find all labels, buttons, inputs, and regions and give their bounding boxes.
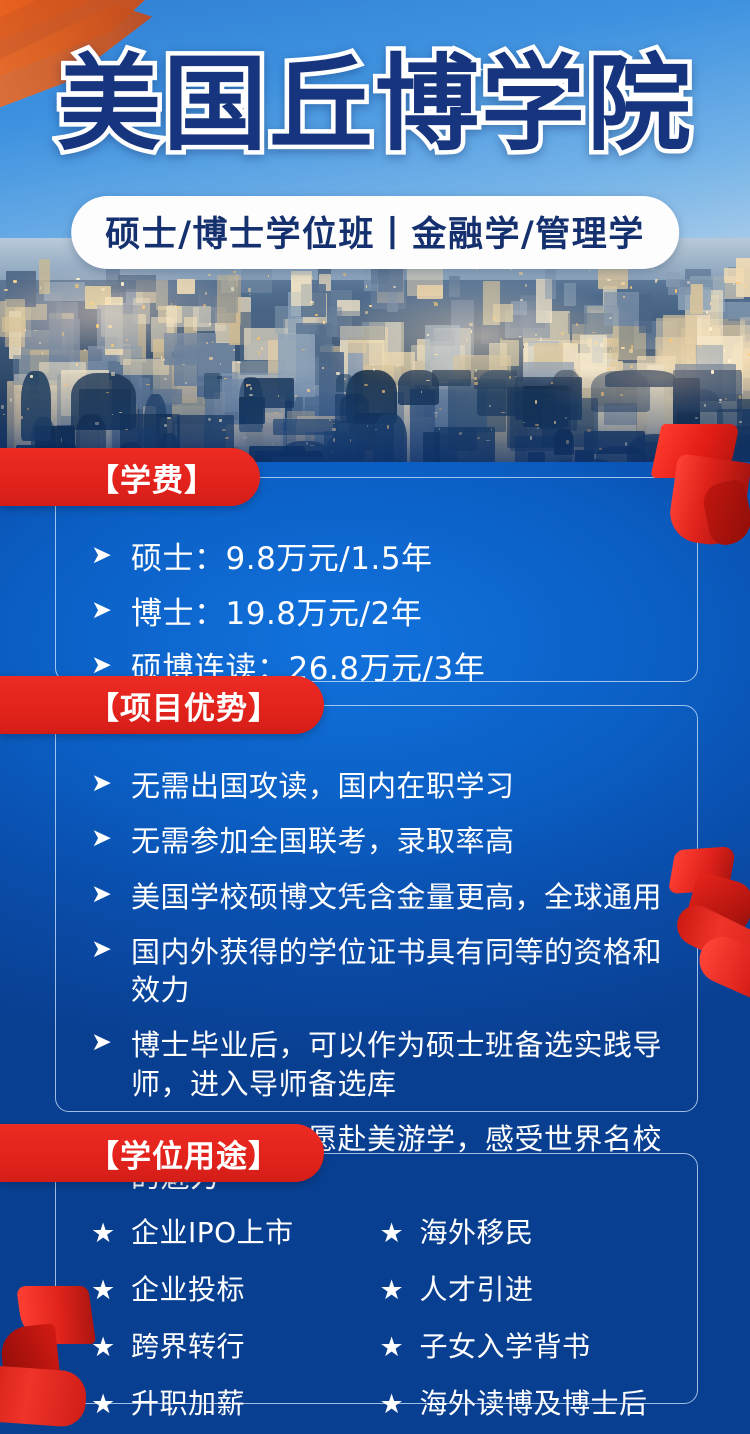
arrow-bullet-icon: ➤ [91, 652, 121, 677]
star-bullet-icon: ★ [380, 1334, 410, 1361]
uses-list: ★企业IPO上市★海外移民★企业投标★人才引进★跨界转行★子女入学背书★升职加薪… [91, 1215, 668, 1434]
list-item: ➤博士：19.8万元/2年 [91, 594, 668, 635]
arrow-bullet-icon: ➤ [91, 936, 121, 961]
list-item-label: 企业投标 [131, 1272, 245, 1309]
list-item: ★跨界转行 [91, 1329, 380, 1366]
list-item-label: 人才引进 [420, 1272, 534, 1309]
tuition-list: ➤硕士：9.8万元/1.5年➤博士：19.8万元/2年➤硕博连读：26.8万元/… [91, 539, 668, 690]
list-item: ➤美国学校硕博文凭含金量更高，全球通用 [91, 878, 668, 916]
list-item: ★海外移民 [380, 1215, 669, 1252]
star-bullet-icon: ★ [91, 1391, 121, 1418]
arrow-bullet-icon: ➤ [91, 597, 121, 622]
list-item: ★升职加薪 [91, 1386, 380, 1423]
list-item: ➤无需出国攻读，国内在职学习 [91, 767, 668, 805]
section-uses-title: 【学位用途】 [88, 1131, 280, 1176]
star-bullet-icon: ★ [91, 1277, 121, 1304]
list-item: ★人才引进 [380, 1272, 669, 1309]
list-item: ➤国内外获得的学位证书具有同等的资格和效力 [91, 933, 668, 1010]
list-item-label: 升职加薪 [131, 1386, 245, 1423]
list-item-label: 硕士：9.8万元/1.5年 [131, 539, 433, 580]
star-bullet-icon: ★ [380, 1277, 410, 1304]
arrow-bullet-icon: ➤ [91, 825, 121, 850]
list-item-label: 无需出国攻读，国内在职学习 [131, 767, 515, 805]
star-bullet-icon: ★ [91, 1334, 121, 1361]
cityscape-photo [0, 238, 750, 462]
star-bullet-icon: ★ [380, 1220, 410, 1247]
star-bullet-icon: ★ [380, 1391, 410, 1418]
list-item-label: 海外移民 [420, 1215, 534, 1252]
list-item-label: 博士：19.8万元/2年 [131, 594, 422, 635]
section-uses-body: ★企业IPO上市★海外移民★企业投标★人才引进★跨界转行★子女入学背书★升职加薪… [55, 1153, 698, 1434]
arrow-bullet-icon: ➤ [91, 881, 121, 906]
list-item-label: 跨界转行 [131, 1329, 245, 1366]
list-item: ★子女入学背书 [380, 1329, 669, 1366]
arrow-bullet-icon: ➤ [91, 770, 121, 795]
list-item-label: 博士毕业后，可以作为硕士班备选实践导师，进入导师备选库 [131, 1026, 668, 1103]
list-item: ★企业IPO上市 [91, 1215, 380, 1252]
page-title: 美国丘博学院 [57, 48, 693, 160]
list-item-label: 海外读博及博士后 [420, 1386, 648, 1423]
list-item: ➤无需参加全国联考，录取率高 [91, 822, 668, 860]
list-item-label: 子女入学背书 [420, 1329, 591, 1366]
list-item-label: 国内外获得的学位证书具有同等的资格和效力 [131, 933, 668, 1010]
section-tuition-header: 【学费】 [0, 448, 260, 506]
list-item-label: 无需参加全国联考，录取率高 [131, 822, 515, 860]
arrow-bullet-icon: ➤ [91, 542, 121, 567]
subtitle-text: 硕士/博士学位班丨金融学/管理学 [105, 215, 645, 255]
list-item: ★企业投标 [91, 1272, 380, 1309]
city-shade-overlay [0, 238, 750, 462]
poster-root: 美国丘博学院 硕士/博士学位班丨金融学/管理学 ➤硕士：9.8万元/1.5年➤博… [0, 0, 750, 1434]
title-block: 美国丘博学院 [0, 48, 750, 160]
list-item: ★海外读博及博士后 [380, 1386, 669, 1423]
list-item: ➤硕士：9.8万元/1.5年 [91, 539, 668, 580]
arrow-bullet-icon: ➤ [91, 1029, 121, 1054]
section-advantages-header: 【项目优势】 [0, 676, 324, 734]
section-uses-header: 【学位用途】 [0, 1124, 324, 1182]
subtitle-pill: 硕士/博士学位班丨金融学/管理学 [71, 196, 679, 269]
section-tuition-title: 【学费】 [88, 455, 216, 500]
star-bullet-icon: ★ [91, 1220, 121, 1247]
list-item-label: 美国学校硕博文凭含金量更高，全球通用 [131, 878, 662, 916]
list-item-label: 企业IPO上市 [131, 1215, 294, 1252]
list-item: ➤博士毕业后，可以作为硕士班备选实践导师，进入导师备选库 [91, 1026, 668, 1103]
section-advantages-title: 【项目优势】 [88, 683, 280, 728]
